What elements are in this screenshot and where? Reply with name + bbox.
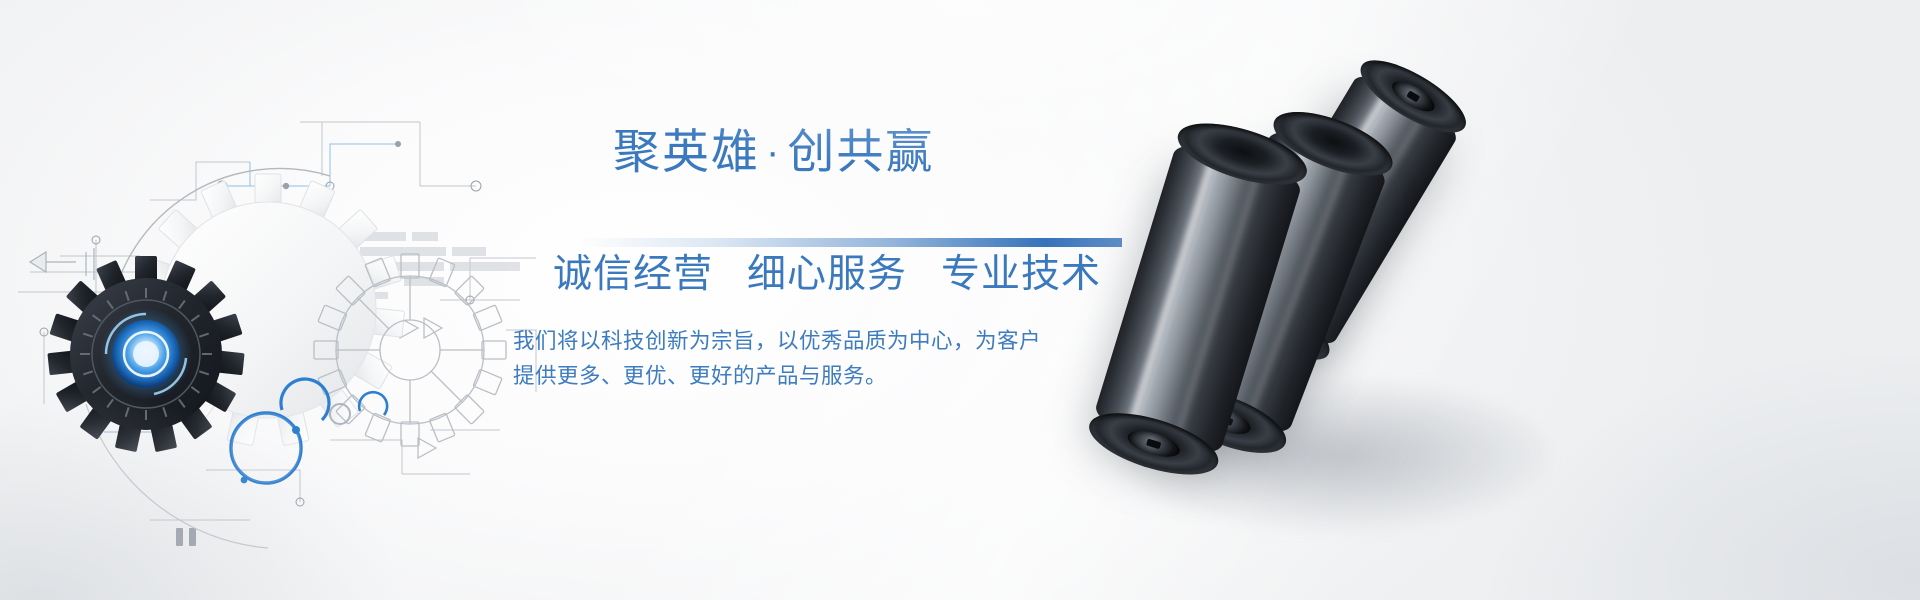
banner-copy: 聚英雄·创共赢 诚信经营细心服务专业技术 我们将以科技创新为宗旨，以优秀品质为中… [505, 96, 1105, 436]
subtitle-item-3: 专业技术 [941, 253, 1101, 296]
pause-icon [176, 528, 196, 546]
subtitle-item-1: 诚信经营 [553, 253, 713, 296]
dark-gear-with-blue-core [47, 256, 244, 452]
conveyor-rollers-photo [1090, 50, 1650, 570]
promo-banner: 聚英雄·创共赢 诚信经营细心服务专业技术 我们将以科技创新为宗旨，以优秀品质为中… [0, 0, 1920, 600]
technology-artwork [0, 0, 560, 600]
banner-subtitle: 诚信经营细心服务专业技术 [553, 252, 1101, 298]
description-line-2: 提供更多、更优、更好的产品与服务。 [513, 359, 1073, 394]
page-title: 聚英雄·创共赢 [613, 128, 934, 175]
gradient-divider [577, 238, 1122, 247]
headline-left: 聚英雄 [613, 125, 760, 178]
blue-arc-small [359, 392, 387, 415]
blue-ring-large [231, 413, 301, 483]
subtitle-item-2: 细心服务 [747, 253, 907, 296]
headline-separator: · [760, 130, 787, 174]
banner-description: 我们将以科技创新为宗旨，以优秀品质为中心，为客户 提供更多、更优、更好的产品与服… [513, 324, 1073, 394]
description-line-1: 我们将以科技创新为宗旨，以优秀品质为中心，为客户 [513, 324, 1073, 359]
arrow-marker-left [30, 248, 94, 280]
headline-right: 创共赢 [787, 125, 934, 178]
